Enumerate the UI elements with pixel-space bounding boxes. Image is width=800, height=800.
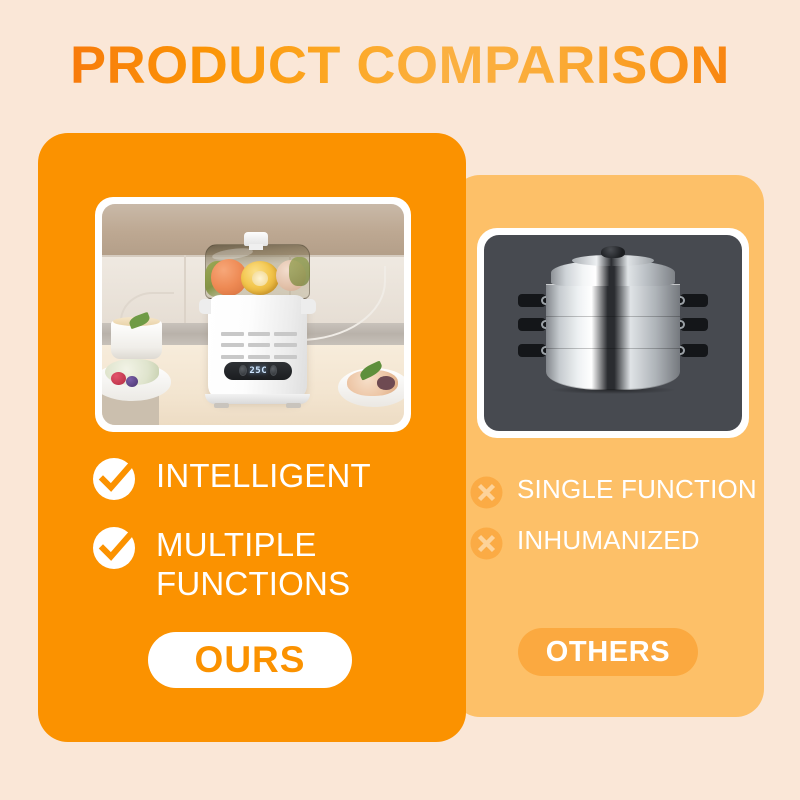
pot-lid-knob bbox=[601, 246, 624, 258]
check-icon bbox=[92, 457, 136, 501]
others-badge: OTHERS bbox=[518, 628, 698, 676]
page-title: PRODUCT COMPARISON bbox=[0, 35, 800, 97]
others-badge-label: OTHERS bbox=[546, 636, 670, 669]
garnish-dark bbox=[377, 376, 395, 389]
list-item: MULTIPLE FUNCTIONS bbox=[92, 525, 432, 603]
ours-badge-label: OURS bbox=[195, 639, 306, 681]
others-product-photo-frame bbox=[477, 228, 749, 438]
list-item-label: MULTIPLE FUNCTIONS bbox=[156, 525, 432, 603]
ours-badge: OURS bbox=[148, 632, 352, 688]
corn-slice bbox=[241, 261, 279, 294]
ours-feature-list: INTELLIGENT MULTIPLE FUNCTIONS bbox=[92, 456, 432, 603]
ours-product-photo: 25C bbox=[102, 204, 404, 425]
x-icon bbox=[470, 476, 503, 509]
cooker-handle-left bbox=[199, 299, 211, 314]
steamer-pot bbox=[484, 235, 742, 431]
list-item-label: SINGLE FUNCTION bbox=[517, 474, 757, 505]
display-button-left bbox=[239, 365, 247, 376]
cooker-control-labels bbox=[221, 332, 297, 359]
cooker-foot bbox=[286, 403, 301, 409]
cooker-handle-right bbox=[301, 299, 316, 314]
list-item: SINGLE FUNCTION bbox=[470, 474, 760, 509]
display-temperature-value: 25C bbox=[249, 366, 267, 376]
cabinet-seam bbox=[184, 255, 186, 324]
display-button-right bbox=[270, 365, 278, 376]
others-product-photo bbox=[484, 235, 742, 431]
x-icon bbox=[470, 527, 503, 560]
lid-knob-stem bbox=[249, 244, 263, 251]
list-item: INTELLIGENT bbox=[92, 456, 432, 501]
green-beans bbox=[289, 257, 310, 286]
ours-product-photo-frame: 25C bbox=[95, 197, 411, 432]
others-feature-list: SINGLE FUNCTION INHUMANIZED bbox=[470, 474, 760, 560]
list-item-label: INTELLIGENT bbox=[156, 456, 371, 495]
check-icon bbox=[92, 526, 136, 570]
pot-tier-top bbox=[546, 284, 680, 317]
cooker-digital-display: 25C bbox=[224, 362, 292, 380]
cooker-foot bbox=[214, 403, 229, 409]
list-item: INHUMANIZED bbox=[470, 525, 760, 560]
pot-tier-middle bbox=[546, 315, 680, 348]
kitchen-scene: 25C bbox=[102, 204, 404, 425]
pot-tier-bottom bbox=[546, 347, 680, 390]
list-item-label: INHUMANIZED bbox=[517, 525, 700, 556]
